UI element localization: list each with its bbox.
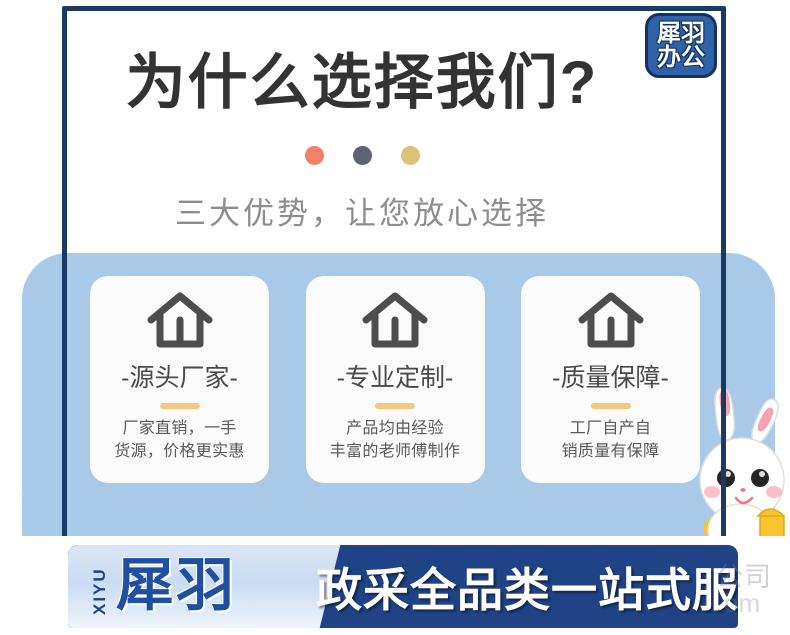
feature-card-source-factory: -源头厂家- 厂家直销，一手 货源，价格更实惠 xyxy=(90,276,269,483)
house-icon xyxy=(578,290,644,350)
dot-coral-icon xyxy=(305,146,324,165)
feature-card-divider xyxy=(591,403,631,409)
banner-brand-label: 犀羽 xyxy=(116,551,236,621)
feature-card-title: -质量保障- xyxy=(552,358,669,394)
feature-card-description: 产品均由经验 丰富的老师傅制作 xyxy=(330,418,460,463)
feature-card-list: -源头厂家- 厂家直销，一手 货源，价格更实惠 -专业定制- 产品均由经验 丰富… xyxy=(90,276,700,483)
banner-slogan-label: 政采全品类一站式服务 xyxy=(316,554,738,620)
page-title: 为什么选择我们? xyxy=(62,50,662,116)
house-icon xyxy=(147,290,213,350)
feature-card-description: 厂家直销，一手 货源，价格更实惠 xyxy=(114,418,244,463)
brand-badge-label: 犀羽办公 xyxy=(653,22,709,69)
brand-badge: 犀羽办公 xyxy=(645,13,717,78)
dot-slate-icon xyxy=(353,146,372,165)
watermark-domain: om xyxy=(724,588,760,619)
page-subtitle: 三大优势，让您放心选择 xyxy=(62,188,662,233)
feature-card-description: 工厂自产自 销质量有保障 xyxy=(562,418,660,463)
promo-graphic: 为什么选择我们? 三大优势，让您放心选择 -源头厂家- 厂家直销，一手 货源，价… xyxy=(0,0,790,635)
banner-pinyin-label: XIYU xyxy=(90,559,110,615)
feature-card-divider xyxy=(160,403,200,409)
bottom-banner: XIYU 犀羽 政采全品类一站式服务 xyxy=(68,545,738,628)
feature-card-divider xyxy=(375,403,415,409)
feature-card-quality-guarantee: -质量保障- 工厂自产自 销质量有保障 xyxy=(521,276,700,483)
feature-card-title: -专业定制- xyxy=(337,358,454,394)
feature-card-custom-made: -专业定制- 产品均由经验 丰富的老师傅制作 xyxy=(306,276,485,483)
dot-gold-icon xyxy=(401,146,420,165)
feature-card-title: -源头厂家- xyxy=(121,358,238,394)
house-icon xyxy=(362,290,428,350)
dot-decorations xyxy=(62,146,662,165)
